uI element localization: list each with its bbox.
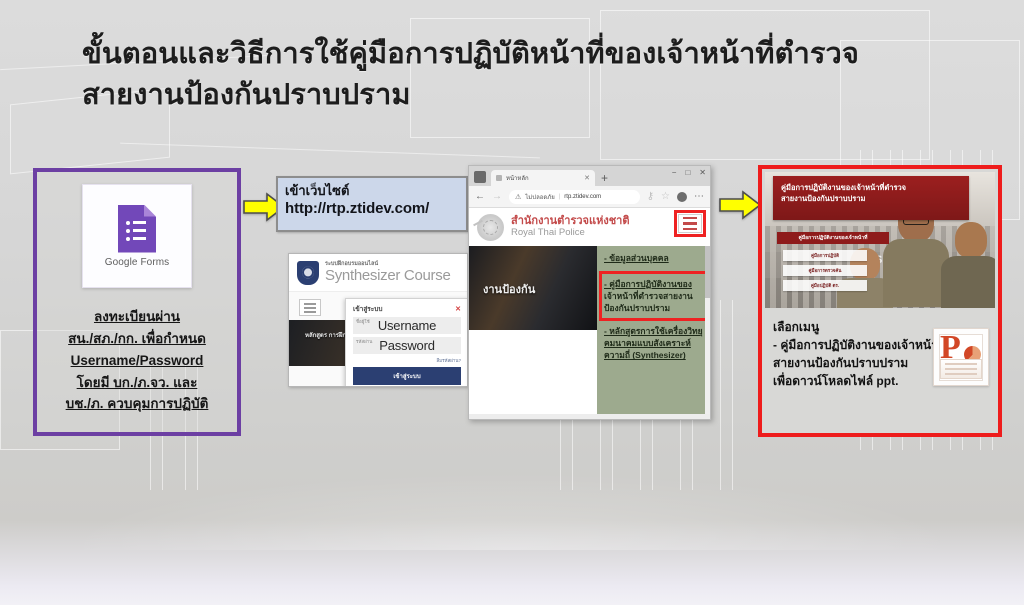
minimize-button[interactable]: − [672,168,677,177]
menu-item-synth-line-2: คมนาคมแบบสังเคราะห์ [604,338,691,348]
google-forms-card: Google Forms [82,184,192,288]
arrow-step-3-to-4-icon [719,190,761,220]
forms-caption-line-5: บช./ภ. ควบคุมการปฏิบัติ [43,393,231,415]
star-icon[interactable]: ☆ [661,191,670,202]
site-hero-text: งานป้องกัน [483,280,535,298]
menu-icon[interactable] [299,299,321,316]
download-caption: เลือกเมนู - คู่มือการปฏิบัติงานของเจ้าหน… [765,308,995,390]
watermark-roofline [0,420,1024,550]
page-title-line-1: ขั้นตอนและวิธีการใช้คู่มือการปฏิบัติหน้า… [82,34,882,75]
login-dialog-title: เข้าสู่ระบบ [353,304,383,314]
password-label: รหัสผ่าน [356,338,372,345]
maximize-button[interactable]: □ [685,168,690,177]
username-value: Username [378,318,436,333]
omnibox-host: rtp.ztidev.com [564,194,601,200]
menu-item-manual-highlighted[interactable]: - คู่มือการปฏิบัติงานของ เจ้าหน้าที่ตำรว… [604,276,703,316]
page-title-line-2: สายงานป้องกันปราบปราม [82,75,882,116]
window-controls: − □ ✕ [672,168,706,177]
site-hero-footer [469,330,599,414]
address-bar[interactable]: ⚠ ไม่ปลอดภัย | rtp.ztidev.com [509,190,640,204]
menu-item-personal-info[interactable]: - ข้อมูลส่วนบุคคล [604,252,703,264]
browser-app-icon [474,171,486,183]
powerpoint-icon: P [933,328,989,386]
menu-item-manual-line-2: เจ้าหน้าที่ตำรวจสายงาน [604,290,703,302]
site-dropdown-menu: - ข้อมูลส่วนบุคคล - คู่มือการปฏิบัติงานข… [597,246,710,420]
page-scrollbar[interactable] [705,246,710,420]
login-submit-button[interactable]: เข้าสู่ระบบ [353,367,461,385]
site-title-thai: สำนักงานตำรวจแห่งชาติ [511,215,630,227]
powerpoint-sheet-glyph [940,359,982,379]
menu-icon[interactable] [678,214,702,233]
username-field[interactable]: ชื่อผู้ใช้ Username [353,317,461,334]
password-field[interactable]: รหัสผ่าน Password [353,337,461,354]
royal-thai-police-crest-icon [477,214,504,241]
forms-caption-line-1: ลงทะเบียนผ่าน [43,306,231,328]
panel-download-instructions: STANDARD คู่มือการปฏิบัติงานของเจ้าหน้าท… [758,165,1002,437]
menu-item-synthesizer-course[interactable]: - หลักสูตรการใช้เครื่องวิทยุ คมนาคมแบบสั… [604,325,703,361]
login-dialog: เข้าสู่ระบบ ✕ ชื่อผู้ใช้ Username รหัสผ่… [345,298,468,387]
watermark-line [120,143,540,159]
menu-item-manual-line-3: ป้องกันปราบปราม [604,302,703,314]
forms-caption: ลงทะเบียนผ่าน สน./สภ./กก. เพื่อกำหนด Use… [43,306,231,415]
tab-close-icon[interactable]: ✕ [584,174,590,182]
omnibox-separator: | [559,194,561,200]
forward-icon[interactable]: → [492,191,502,202]
more-icon[interactable]: ⋯ [694,191,704,202]
forms-caption-line-2: สน./สภ./กก. เพื่อกำหนด [43,328,231,350]
red-subbar: คู่มือการปฏิบัติงานของเจ้าหน้าที่ [777,232,889,244]
forms-caption-line-4: โดยมี บก./ภ.จว. และ [43,372,231,394]
red-banner: คู่มือการปฏิบัติงานของเจ้าหน้าที่ตำรวจ ส… [773,176,969,220]
login-site-title: Synthesizer Course [325,268,451,284]
site-header: สำนักงานตำรวจแห่งชาติ Royal Thai Police [469,208,710,246]
page-title: ขั้นตอนและวิธีการใช้คู่มือการปฏิบัติหน้า… [82,34,882,116]
police-badge-icon [297,261,319,285]
login-site-titles: ระบบฝึกอบรมออนไลน์ Synthesizer Course [325,262,451,284]
menu-item-synth-line-1: - หลักสูตรการใช้เครื่องวิทยุ [604,326,703,336]
password-value: Password [379,338,434,353]
browser-tab-bar: หน้าหลัก ✕ + − □ ✕ [469,166,710,186]
panel-google-forms: Google Forms ลงทะเบียนผ่าน สน./สภ./กก. เ… [33,168,241,436]
panel-browser-screenshot: หน้าหลัก ✕ + − □ ✕ ← → ⚠ ไม่ปลอดภัย | rt… [468,165,711,420]
menu-item-manual-line-1: - คู่มือการปฏิบัติงานของ [604,279,692,289]
browser-page-content: สำนักงานตำรวจแห่งชาติ Royal Thai Police … [469,208,710,420]
profile-icon[interactable] [677,192,687,202]
key-icon[interactable]: ⚷ [647,191,654,202]
url-callout: เข้าเว็บไซต์ http://rtp.ztidev.com/ [276,176,468,232]
google-forms-icon [118,205,156,253]
not-secure-icon: ⚠ [515,193,521,201]
tab-title: หน้าหลัก [506,173,580,183]
watermark-column [720,300,733,490]
menu-item-personal-info-label: - ข้อมูลส่วนบุคคล [604,253,669,263]
forgot-password-link[interactable]: ลืมรหัสผ่าน? [353,357,461,364]
police-photo: STANDARD คู่มือการปฏิบัติงานของเจ้าหน้าท… [765,172,995,308]
red-banner-line-1: คู่มือการปฏิบัติงานของเจ้าหน้าที่ตำรวจ [781,182,961,193]
browser-tab[interactable]: หน้าหลัก ✕ [491,170,595,186]
url-callout-label: เข้าเว็บไซต์ [285,183,459,199]
security-label: ไม่ปลอดภัย [525,192,554,202]
panel-login-screenshot: ระบบฝึกอบรมออนไลน์ Synthesizer Course หล… [288,253,468,387]
forms-caption-line-3: Username/Password [43,350,231,372]
site-hero-image: งานป้องกัน [469,246,599,330]
slide-canvas: ขั้นตอนและวิธีการใช้คู่มือการปฏิบัติหน้า… [0,0,1024,605]
side-button-1[interactable]: คู่มือการปฏิบัติ [783,250,867,261]
tab-favicon [496,175,502,181]
username-label: ชื่อผู้ใช้ [356,318,370,325]
close-icon[interactable]: ✕ [455,305,461,313]
back-icon[interactable]: ← [475,191,485,202]
url-callout-address[interactable]: http://rtp.ztidev.com/ [285,199,459,219]
side-button-3[interactable]: คู่มือปฏิบัติ ตร. [783,280,867,291]
browser-status-bar [469,414,711,420]
site-title-group: สำนักงานตำรวจแห่งชาติ Royal Thai Police [511,215,630,238]
side-button-2[interactable]: คู่มือการตรวจค้น [783,265,867,276]
police-officer-right [941,222,995,308]
close-window-button[interactable]: ✕ [699,168,706,177]
login-site-header: ระบบฝึกอบรมออนไลน์ Synthesizer Course [289,254,467,292]
menu-item-synth-line-3: ความถี่ (Synthesizer) [604,350,686,360]
red-banner-line-2: สายงานป้องกันปราบปราม [781,193,961,204]
browser-nav-bar: ← → ⚠ ไม่ปลอดภัย | rtp.ztidev.com ⚷ ☆ ⋯ [469,186,710,208]
site-title-english: Royal Thai Police [511,228,630,239]
google-forms-label: Google Forms [105,257,170,268]
login-dialog-header: เข้าสู่ระบบ ✕ [353,304,461,314]
new-tab-button[interactable]: + [601,171,608,185]
